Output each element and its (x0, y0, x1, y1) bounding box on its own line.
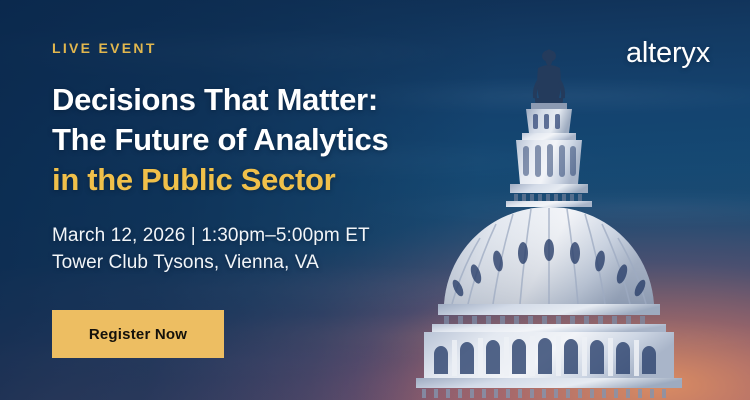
page-title: Decisions That Matter: The Future of Ana… (52, 80, 388, 200)
headline-line-2: The Future of Analytics (52, 120, 388, 160)
event-venue: Tower Club Tysons, Vienna, VA (52, 249, 370, 276)
alteryx-logo[interactable]: alteryx (626, 38, 710, 68)
headline-line-1: Decisions That Matter: (52, 80, 388, 120)
event-date-time: March 12, 2026 | 1:30pm–5:00pm ET (52, 222, 370, 249)
headline-line-3-accent: in the Public Sector (52, 160, 388, 200)
register-now-button[interactable]: Register Now (52, 310, 224, 358)
eyebrow-label: LIVE EVENT (52, 40, 157, 56)
statue-of-freedom (533, 49, 565, 103)
event-details: March 12, 2026 | 1:30pm–5:00pm ET Tower … (52, 222, 370, 276)
event-promo-banner: LIVE EVENT Decisions That Matter: The Fu… (0, 0, 750, 400)
